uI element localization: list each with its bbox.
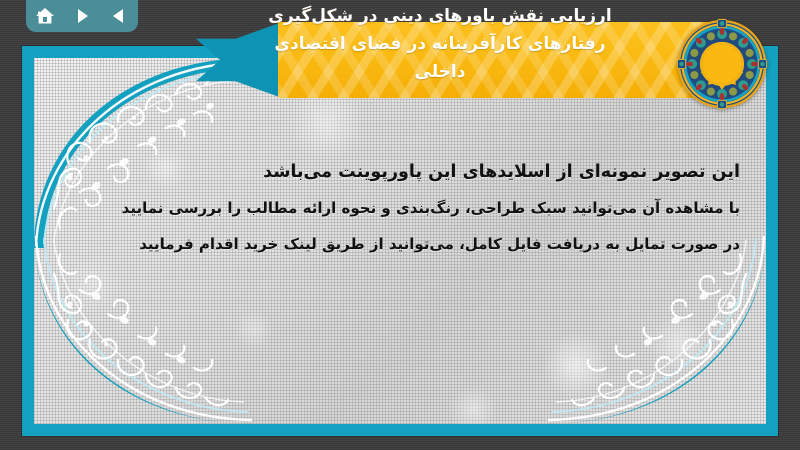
next-slide-button[interactable] bbox=[68, 3, 96, 29]
arabesque-corner-flourish-bottom-left bbox=[34, 234, 254, 424]
slide-navigation-bar bbox=[26, 0, 138, 32]
previous-slide-button[interactable] bbox=[105, 3, 133, 29]
body-line-3: در صورت تمایل به دریافت فایل کامل، می‌تو… bbox=[70, 226, 740, 262]
banner-ribbon-tail bbox=[196, 22, 282, 98]
previous-arrow-icon bbox=[110, 7, 128, 25]
next-arrow-icon bbox=[73, 7, 91, 25]
banner-gold-body bbox=[278, 22, 716, 98]
persian-medallion-ornament bbox=[676, 18, 768, 110]
slide-title-banner bbox=[196, 22, 716, 98]
home-button[interactable] bbox=[31, 3, 59, 29]
slide-body-text: این تصویر نمونه‌ای از اسلایدهای این پاور… bbox=[70, 154, 740, 262]
body-line-2: با مشاهده آن می‌توانید سبک طراحی، رنگ‌بن… bbox=[70, 190, 740, 226]
slide-content-panel: این تصویر نمونه‌ای از اسلایدهای این پاور… bbox=[22, 46, 778, 436]
arabesque-corner-flourish-bottom-right bbox=[546, 234, 766, 424]
presentation-slide: این تصویر نمونه‌ای از اسلایدهای این پاور… bbox=[0, 0, 800, 450]
home-icon bbox=[35, 7, 55, 25]
body-line-1: این تصویر نمونه‌ای از اسلایدهای این پاور… bbox=[70, 154, 740, 190]
slide-content-background: این تصویر نمونه‌ای از اسلایدهای این پاور… bbox=[34, 58, 766, 424]
